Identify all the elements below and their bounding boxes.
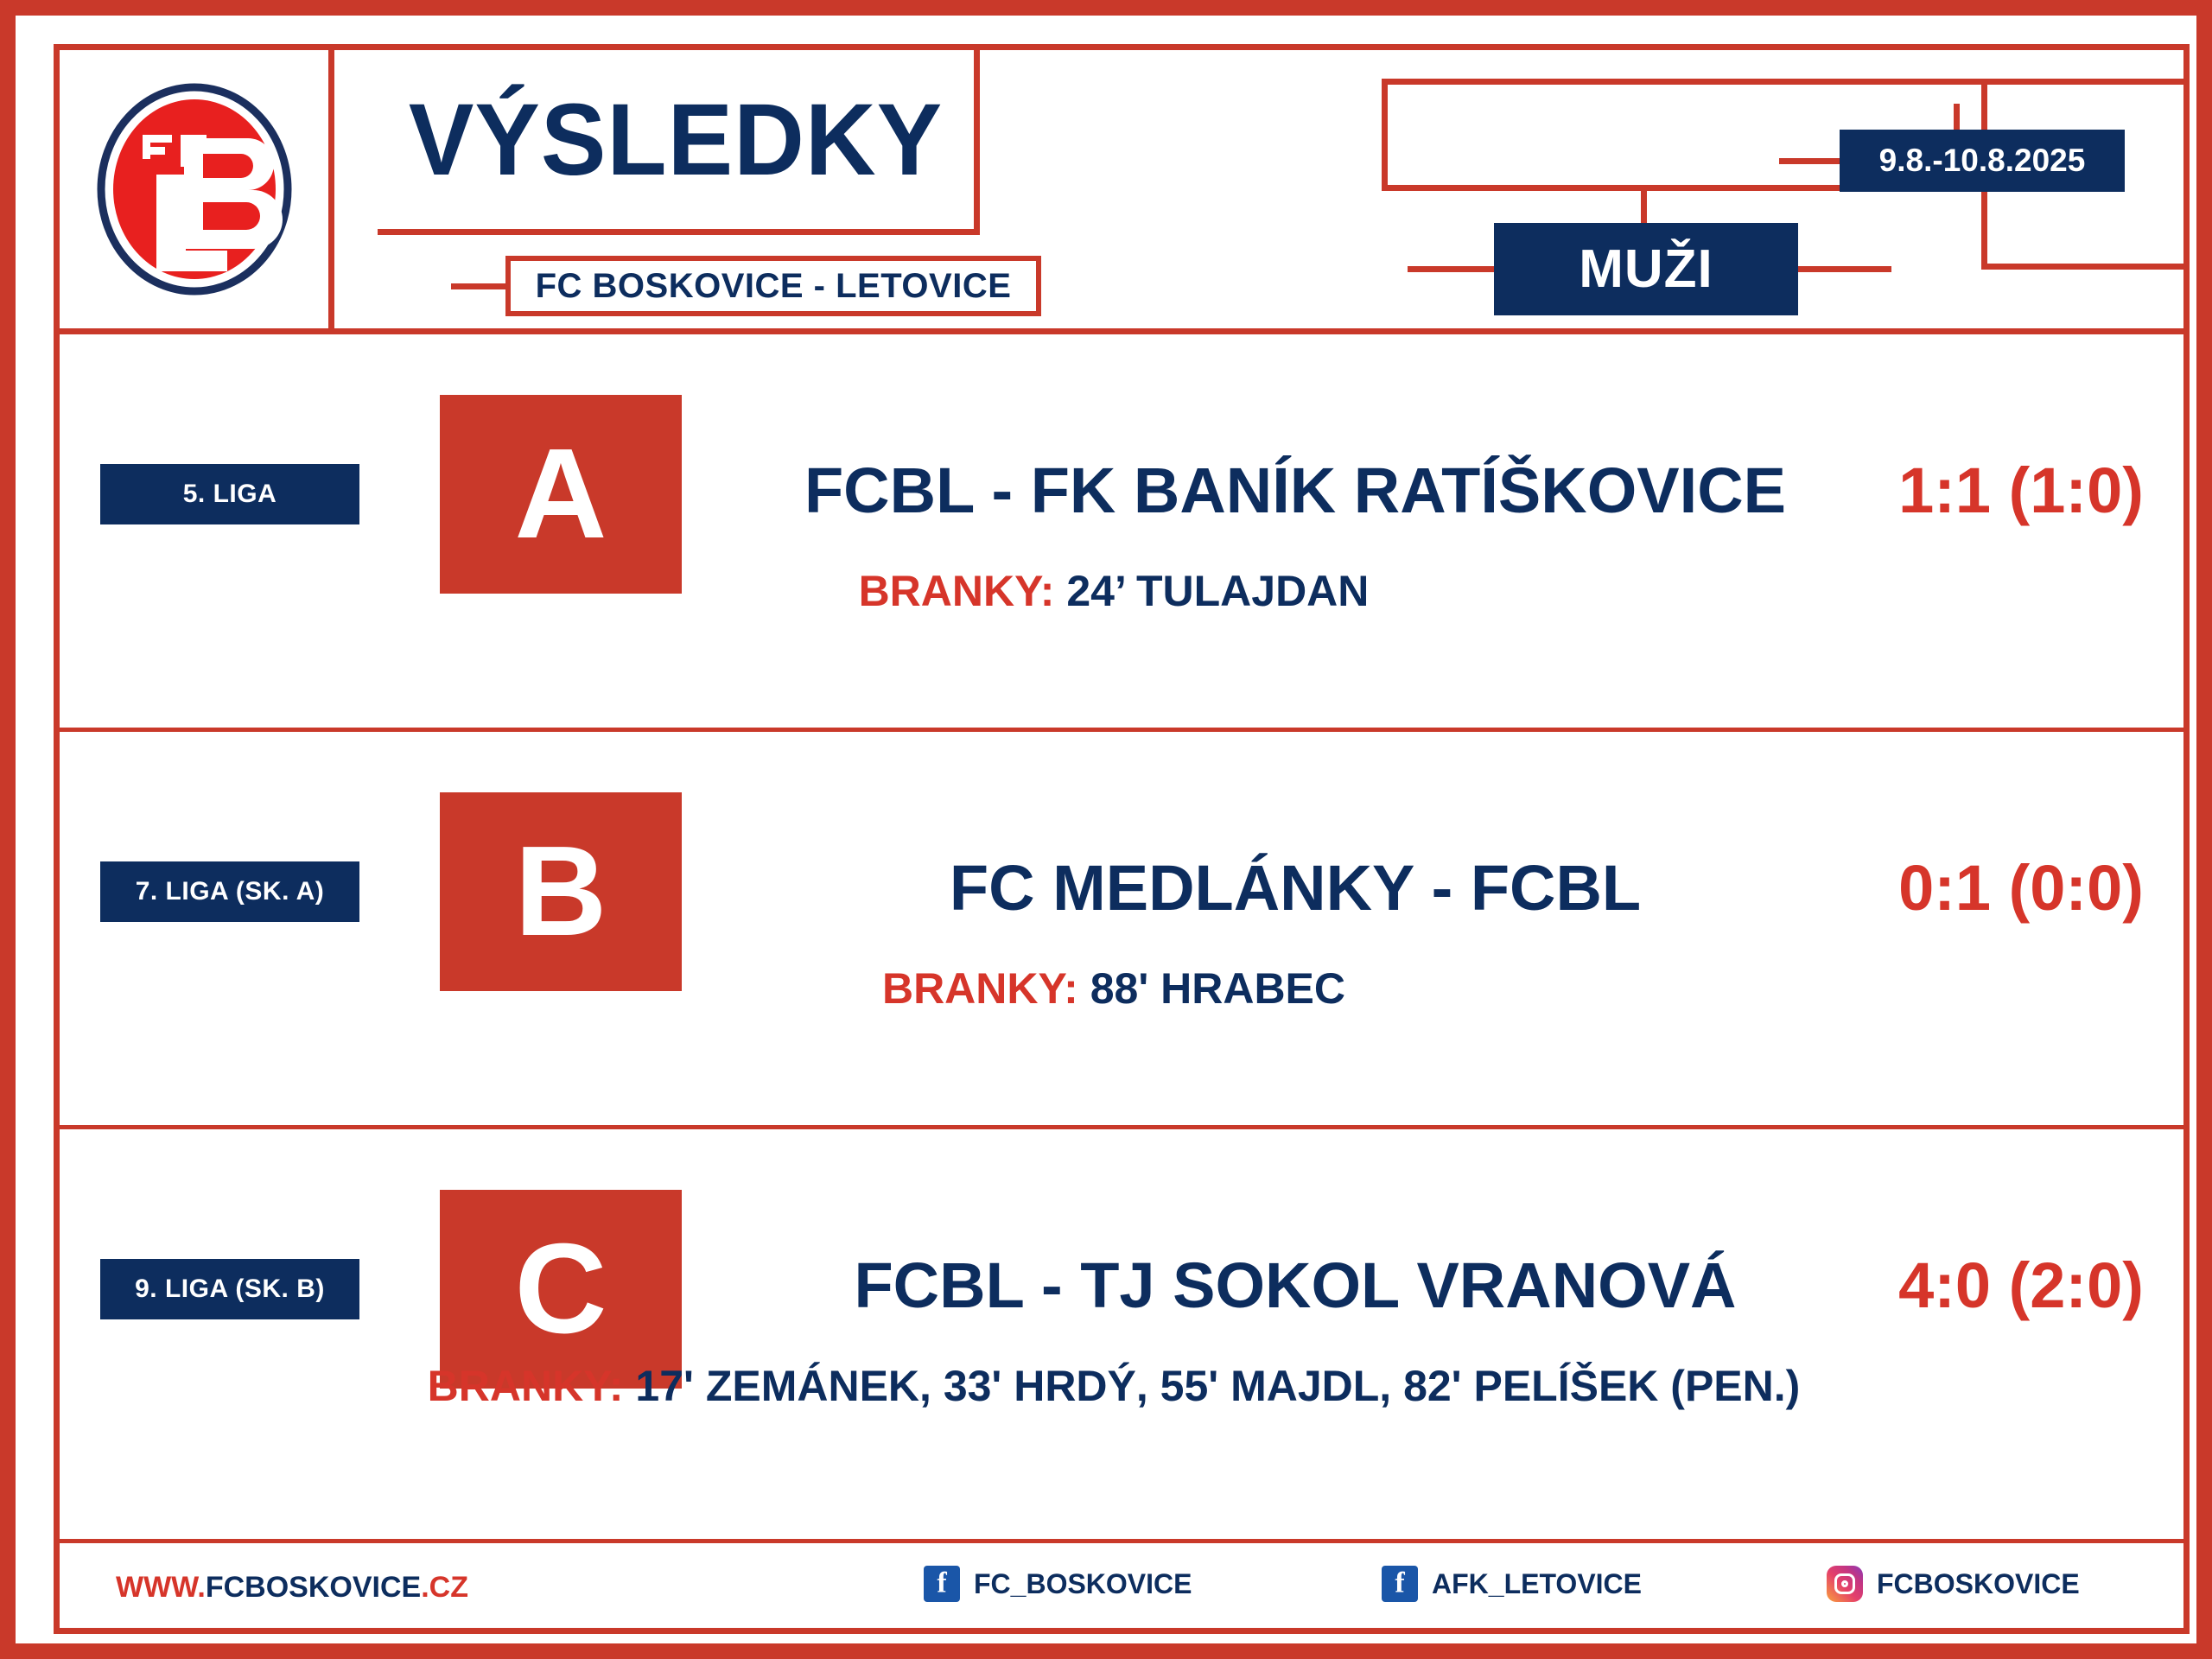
scorers-label: BRANKY: [428, 1362, 624, 1410]
social-link-afk-letovice[interactable]: AFK_LETOVICE [1382, 1566, 1642, 1602]
connector-line-top [1382, 79, 2185, 85]
league-label: 9. LIGA (SK. B) [135, 1274, 325, 1304]
connector-line-left-vertical [1382, 79, 1388, 191]
subtitle: FC BOSKOVICE - LETOVICE [536, 267, 1012, 306]
facebook-icon [924, 1566, 960, 1602]
website-suffix: .CZ [421, 1571, 468, 1604]
social-label: FC_BOSKOVICE [974, 1568, 1192, 1600]
club-logo-cell [60, 50, 334, 328]
scorers-value: 88' HRABEC [1090, 964, 1345, 1013]
match-title: FC MEDLÁNKY - FCBL [716, 836, 1874, 939]
date-range-badge: 9.8.-10.8.2025 [1840, 130, 2125, 192]
website-link[interactable]: WWW.FCBOSKOVICE.CZ [116, 1571, 468, 1605]
match-row: 5. LIGA A FCBL - FK BANÍK RATÍŠKOVICE 1:… [60, 334, 2183, 732]
team-letter: C [515, 1225, 607, 1353]
website-prefix: WWW. [116, 1571, 206, 1604]
instagram-dot [1841, 1580, 1848, 1587]
subtitle-box: FC BOSKOVICE - LETOVICE [505, 256, 1041, 316]
date-range-text: 9.8.-10.8.2025 [1879, 143, 2086, 179]
match-score: 0:1 (0:0) [1857, 836, 2185, 939]
team-letter-box: B [440, 792, 682, 991]
website-main: FCBOSKOVICE [206, 1571, 421, 1604]
page-title-box: VÝSLEDKY [378, 50, 980, 235]
subtitle-connector-line [451, 283, 508, 289]
social-link-instagram[interactable]: FCBOSKOVICE [1827, 1566, 2080, 1602]
team-letter: A [515, 430, 607, 558]
connector-line-badge-stem [1641, 185, 1647, 228]
connector-line-date-stem [1954, 104, 1960, 133]
match-title: FCBL - TJ SOKOL VRANOVÁ [716, 1233, 1874, 1337]
match-title: FCBL - FK BANÍK RATÍŠKOVICE [716, 438, 1874, 542]
header-divider [60, 328, 2183, 334]
match-row: 7. LIGA (SK. A) B FC MEDLÁNKY - FCBL 0:1… [60, 732, 2183, 1129]
connector-line-date-left [1779, 158, 1843, 164]
club-logo [94, 81, 295, 297]
instagram-icon [1827, 1566, 1863, 1602]
match-row: 9. LIGA (SK. B) C FCBL - TJ SOKOL VRANOV… [60, 1129, 2183, 1527]
category-badge: MUŽI [1494, 223, 1798, 315]
team-letter: B [515, 828, 607, 956]
league-badge: 9. LIGA (SK. B) [100, 1259, 359, 1319]
title-block: VÝSLEDKY FC BOSKOVICE - LETOVICE [334, 50, 1026, 328]
scorers-line: BRANKY: 17' ZEMÁNEK, 33' HRDÝ, 55' MAJDL… [60, 1361, 2168, 1411]
category-text: MUŽI [1579, 238, 1713, 300]
page-title: VÝSLEDKY [409, 89, 943, 191]
league-label: 7. LIGA (SK. A) [136, 877, 325, 906]
match-score: 4:0 (2:0) [1857, 1233, 2185, 1337]
connector-line-bottom-horizontal [1981, 264, 2185, 270]
poster-footer: WWW.FCBOSKOVICE.CZ FC_BOSKOVICE AFK_LETO… [60, 1539, 2183, 1628]
scorers-value: 24’ TULAJDAN [1066, 567, 1369, 615]
league-label: 5. LIGA [183, 480, 277, 509]
match-score: 1:1 (1:0) [1857, 438, 2185, 542]
connector-line-cat-right [1796, 266, 1891, 272]
poster-inner-frame: VÝSLEDKY FC BOSKOVICE - LETOVICE 9.8.-10… [54, 44, 2190, 1634]
results-poster: VÝSLEDKY FC BOSKOVICE - LETOVICE 9.8.-10… [0, 0, 2212, 1659]
scorers-value: 17' ZEMÁNEK, 33' HRDÝ, 55' MAJDL, 82' PE… [635, 1362, 1800, 1410]
scorers-line: BRANKY: 88' HRABEC [60, 963, 2168, 1014]
social-label: FCBOSKOVICE [1877, 1568, 2080, 1600]
connector-line-cat-left [1408, 266, 1497, 272]
facebook-icon [1382, 1566, 1418, 1602]
league-badge: 7. LIGA (SK. A) [100, 861, 359, 922]
scorers-label: BRANKY: [882, 964, 1078, 1013]
club-crest-icon [94, 81, 295, 297]
social-link-fc-boskovice[interactable]: FC_BOSKOVICE [924, 1566, 1192, 1602]
scorers-label: BRANKY: [859, 567, 1055, 615]
match-list: 5. LIGA A FCBL - FK BANÍK RATÍŠKOVICE 1:… [60, 334, 2183, 1579]
social-label: AFK_LETOVICE [1432, 1568, 1642, 1600]
team-letter-box: C [440, 1190, 682, 1389]
league-badge: 5. LIGA [100, 464, 359, 524]
team-letter-box: A [440, 395, 682, 594]
scorers-line: BRANKY: 24’ TULAJDAN [60, 566, 2168, 616]
poster-header: VÝSLEDKY FC BOSKOVICE - LETOVICE 9.8.-10… [60, 50, 2183, 328]
